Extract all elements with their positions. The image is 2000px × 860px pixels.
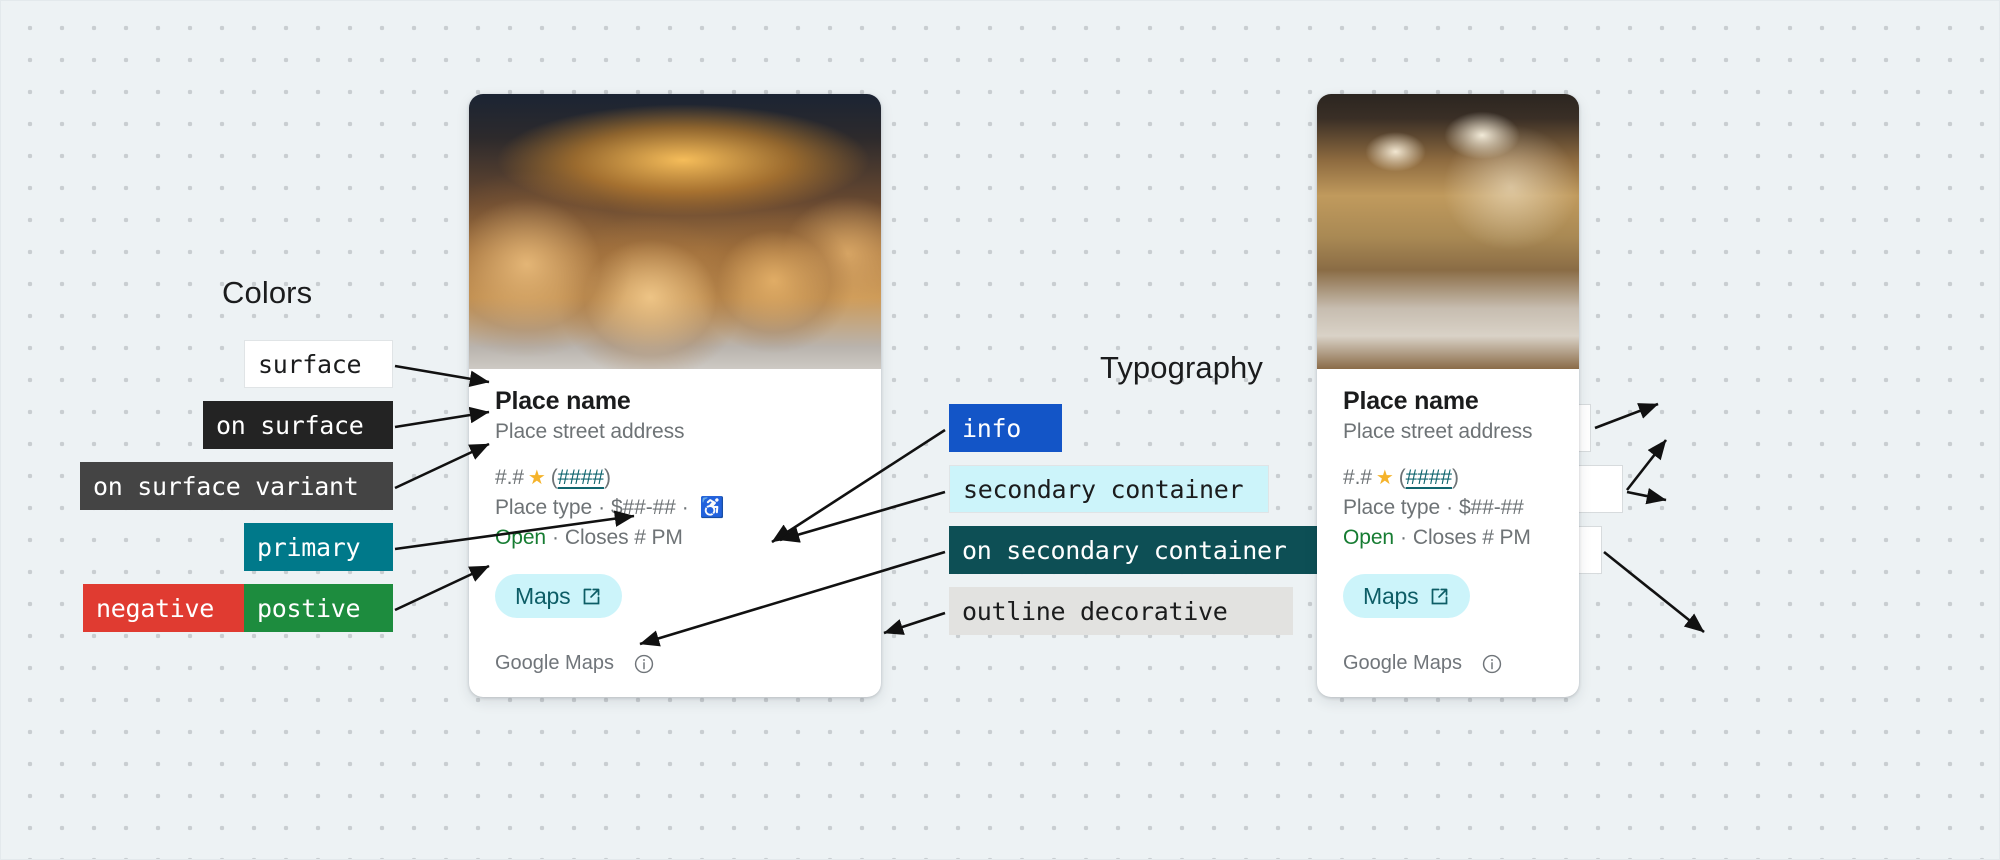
place-rating-row: #.# ★ ( #### ) (1343, 463, 1553, 493)
star-icon: ★ (1376, 464, 1394, 492)
map-attribution: Google Maps (495, 652, 614, 675)
place-photo-bakery-pastries (469, 94, 881, 369)
place-hours-row: Open · Closes # PM (495, 523, 855, 553)
info-icon[interactable] (633, 653, 655, 675)
section-heading-typography: Typography (1100, 350, 1263, 386)
info-icon[interactable] (1481, 653, 1503, 675)
color-chip-label: negative (96, 596, 214, 621)
color-chip-label: info (962, 416, 1021, 441)
review-count-link[interactable]: #### (1406, 463, 1452, 493)
color-chip-outline-decorative[interactable]: outline decorative (949, 587, 1293, 635)
place-type-row: Place type · $##-## · ♿ (495, 493, 855, 523)
place-type: Place type (1343, 493, 1440, 523)
maps-button-label: Maps (515, 583, 570, 610)
review-close-paren: ) (1452, 463, 1459, 493)
open-status: Open (495, 523, 546, 553)
color-chip-label: outline decorative (962, 599, 1228, 624)
place-address: Place street address (495, 420, 855, 444)
color-chip-label: postive (257, 596, 360, 621)
separator-dot: · (552, 523, 559, 553)
closing-time: Closes # PM (1413, 523, 1531, 553)
place-name: Place name (1343, 387, 1553, 416)
rating-value: #.# (495, 463, 524, 493)
color-chip-on-surface[interactable]: on surface (203, 401, 393, 449)
accessibility-icon: ♿ (700, 494, 725, 522)
color-chip-label: primary (257, 535, 360, 560)
color-chip-on-surface-variant[interactable]: on surface variant (80, 462, 393, 510)
map-attribution: Google Maps (1343, 652, 1462, 675)
place-address: Place street address (1343, 420, 1553, 444)
closing-time: Closes # PM (565, 523, 683, 553)
external-link-icon (1429, 586, 1450, 607)
star-icon: ★ (528, 464, 546, 492)
place-photo-cafe-interior (1317, 94, 1579, 369)
separator-dot: · (1400, 523, 1407, 553)
review-count-link[interactable]: #### (558, 463, 604, 493)
separator-dot: · (598, 493, 605, 523)
color-chip-negative[interactable]: negative (83, 584, 244, 632)
section-heading-colors-left: Colors (222, 275, 312, 311)
separator-dot: · (682, 493, 689, 523)
review-close-paren: ) (604, 463, 611, 493)
color-chip-label: secondary container (963, 477, 1243, 502)
place-card-left[interactable]: Place name Place street address #.# ★ ( … (469, 94, 881, 697)
rating-value: #.# (1343, 463, 1372, 493)
color-chip-surface[interactable]: surface (244, 340, 393, 388)
external-link-icon (581, 586, 602, 607)
place-name: Place name (495, 387, 855, 416)
place-type: Place type (495, 493, 592, 523)
color-chip-label: on secondary container (962, 538, 1287, 563)
place-hours-row: Open · Closes # PM (1343, 523, 1553, 553)
color-chip-label: on surface (216, 413, 364, 438)
place-type-row: Place type · $##-## (1343, 493, 1553, 523)
color-chip-secondary-container[interactable]: secondary container (949, 465, 1269, 513)
review-open-paren: ( (551, 463, 558, 493)
color-chip-on-secondary-container[interactable]: on secondary container (949, 526, 1346, 574)
place-card-right[interactable]: Place name Place street address #.# ★ ( … (1317, 94, 1579, 697)
color-chip-label: surface (258, 352, 361, 377)
color-chip-positive[interactable]: postive (244, 584, 393, 632)
color-chip-primary[interactable]: primary (244, 523, 393, 571)
price-range: $##-## (611, 493, 676, 523)
maps-button[interactable]: Maps (1343, 574, 1470, 618)
color-chip-info[interactable]: info (949, 404, 1062, 452)
open-status: Open (1343, 523, 1394, 553)
maps-button[interactable]: Maps (495, 574, 622, 618)
review-open-paren: ( (1399, 463, 1406, 493)
maps-button-label: Maps (1363, 583, 1418, 610)
separator-dot: · (1446, 493, 1453, 523)
place-rating-row: #.# ★ ( #### ) (495, 463, 855, 493)
color-chip-label: on surface variant (93, 474, 359, 499)
price-range: $##-## (1459, 493, 1524, 523)
